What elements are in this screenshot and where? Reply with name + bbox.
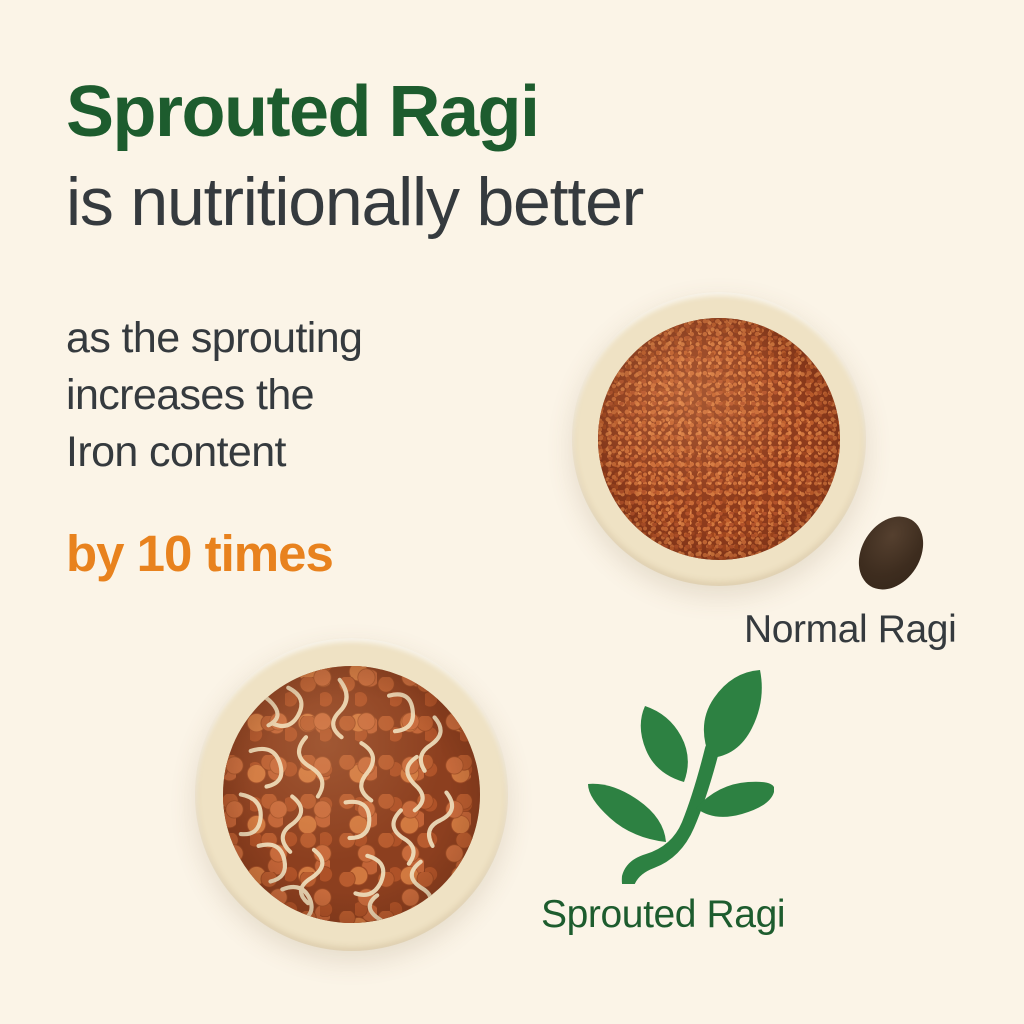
body-copy-line-2: increases the [66, 367, 362, 424]
normal-ragi-caption: Normal Ragi [744, 608, 956, 652]
sprouted-ragi-bowl [195, 638, 508, 951]
ragi-seed-icon [846, 505, 937, 602]
highlight-statistic: by 10 times [66, 528, 333, 579]
bowl-shading-overlay [223, 666, 480, 923]
sprouted-ragi-caption: Sprouted Ragi [541, 893, 785, 937]
sprouted-ragi-bowl-interior [223, 666, 480, 923]
headline-secondary: is nutritionally better [66, 168, 643, 236]
sprout-plant-icon [588, 662, 774, 884]
body-copy-line-1: as the sprouting [66, 310, 362, 367]
normal-ragi-bowl [572, 292, 866, 586]
headline-primary: Sprouted Ragi [66, 76, 539, 148]
bowl-shading-overlay [598, 318, 840, 560]
body-copy-line-3: Iron content [66, 424, 362, 481]
body-copy: as the sprouting increases the Iron cont… [66, 310, 362, 482]
normal-ragi-bowl-interior [598, 318, 840, 560]
infographic-canvas: Sprouted Ragi is nutritionally better as… [0, 0, 1024, 1024]
